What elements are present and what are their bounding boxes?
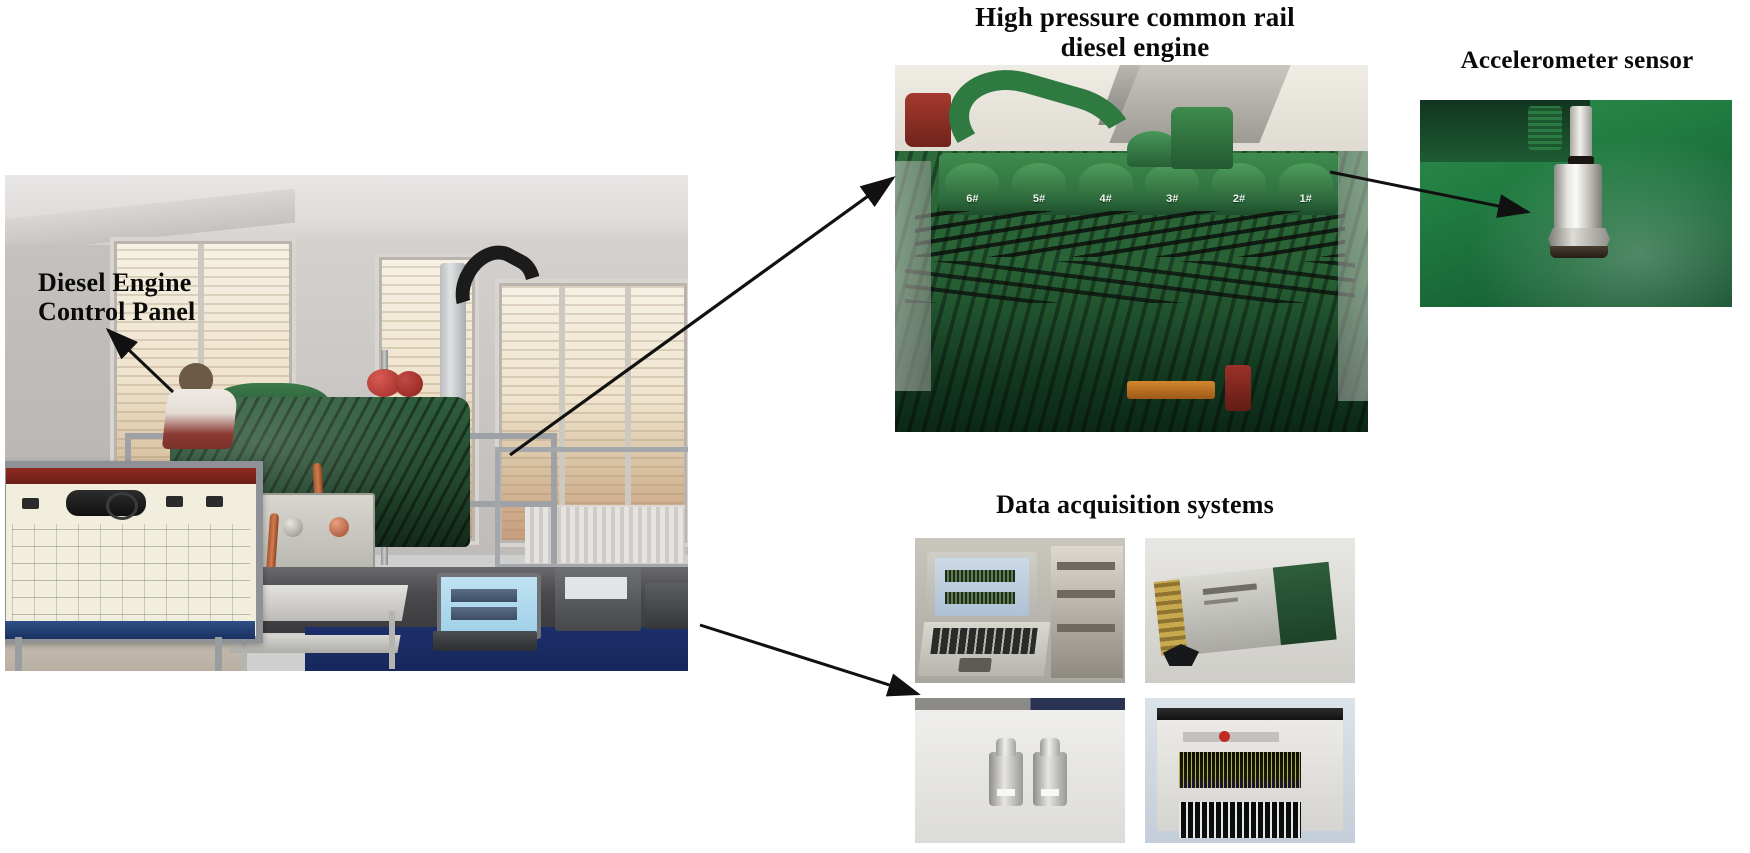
figure-canvas: High pressure common rail diesel engine … (0, 0, 1750, 853)
arrow-lab-to-daq (700, 625, 918, 694)
arrow-engine-to-accelerometer (1330, 172, 1528, 212)
annotation-arrows (0, 0, 1750, 853)
arrow-label-to-control-panel (108, 330, 173, 392)
arrow-lab-to-engine (510, 178, 893, 455)
